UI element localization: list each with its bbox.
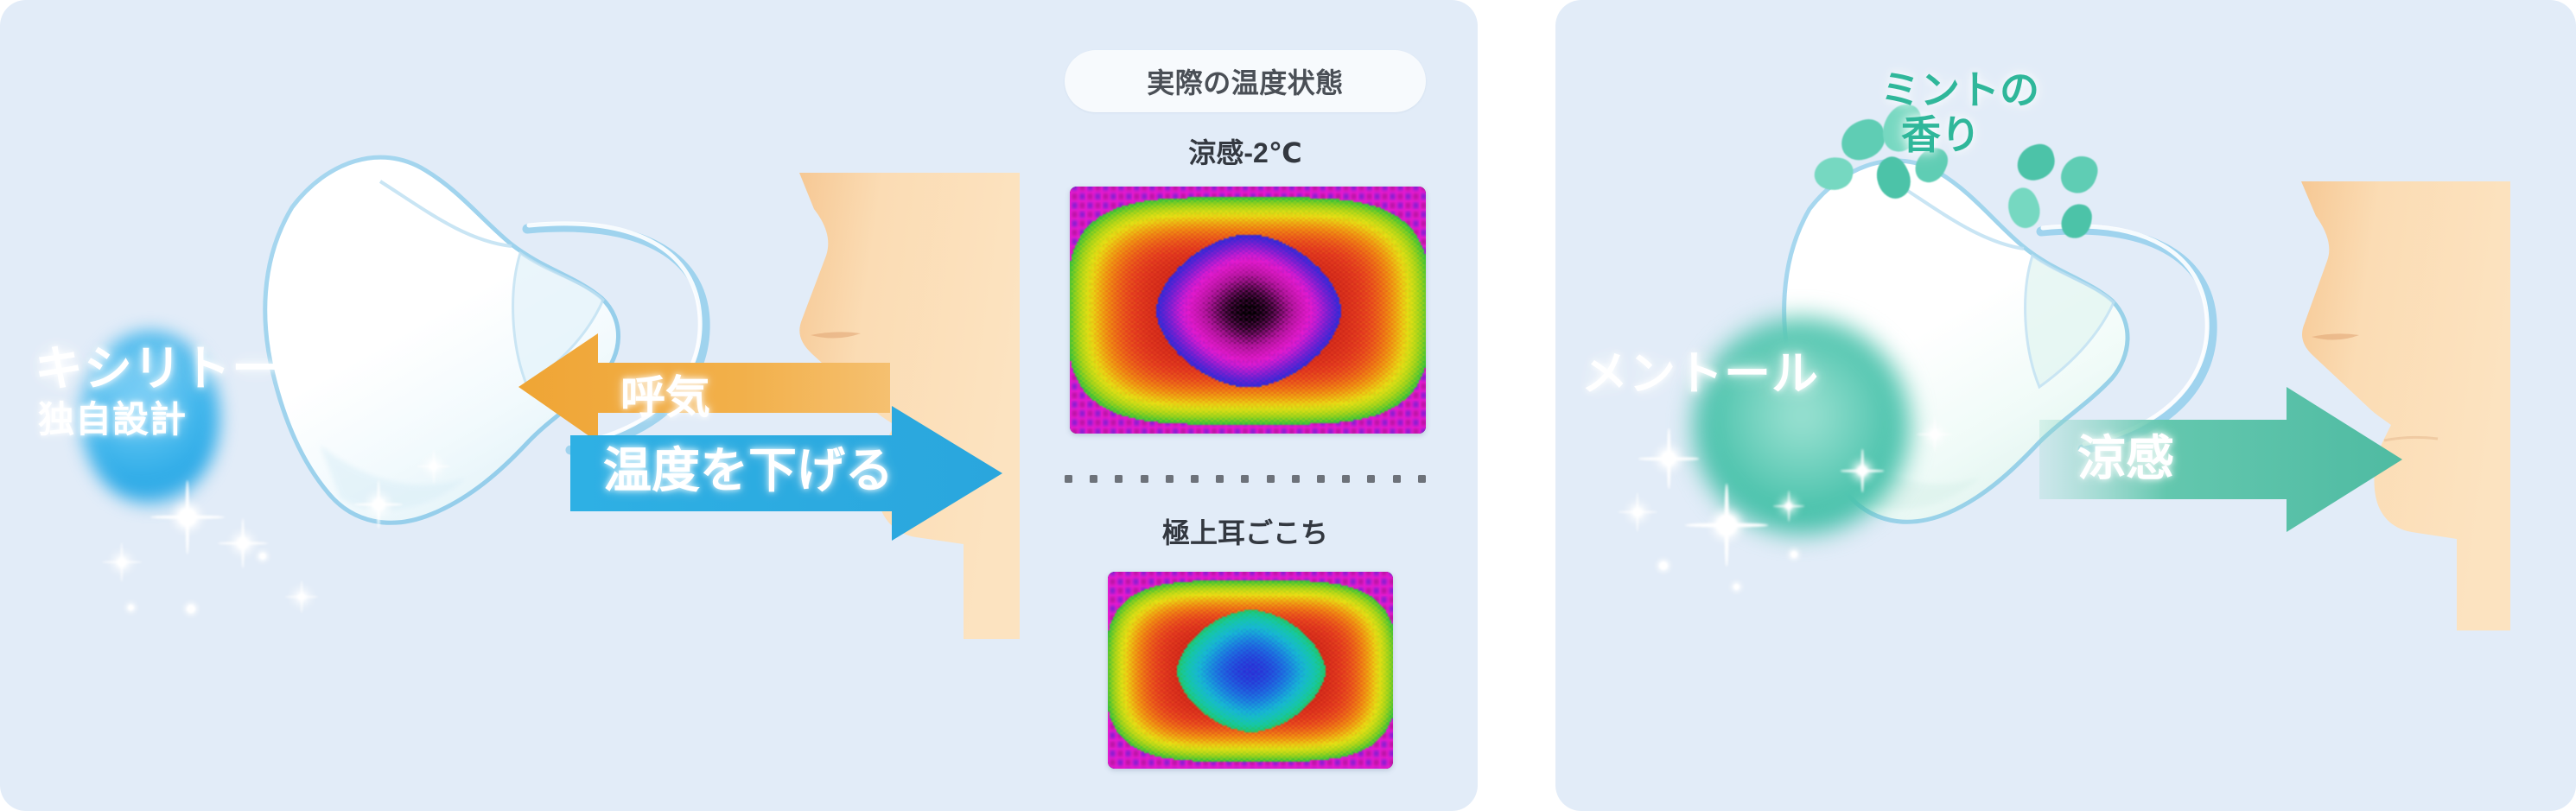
label-original-design: 独自設計 xyxy=(38,390,187,443)
sparkle-dot xyxy=(1733,584,1740,590)
thermal-section-title: 実際の温度状態 xyxy=(1147,61,1344,101)
label-xylitol-superscript: 配合 xyxy=(278,344,316,371)
arrow-lower-temperature: 温度を下げる xyxy=(570,406,1002,544)
thermal-image-cool xyxy=(1070,187,1426,434)
sparkle-dot xyxy=(1659,561,1668,570)
panel-menthol-mask: ミントの 香り メントール 涼感 xyxy=(1555,0,2576,811)
arrow-cooling: 涼感 xyxy=(2039,380,2402,535)
thermal-caption-bottom: 極上耳ごこち xyxy=(1065,511,1426,551)
panel-cooling-mask: キシリトール 配合 独自設計 呼気 xyxy=(0,0,1478,811)
sparkle-dot xyxy=(259,553,266,560)
thermal-section-title-pill: 実際の温度状態 xyxy=(1065,50,1426,112)
thermal-image-warm xyxy=(1108,572,1393,769)
arrow-lower-temperature-label: 温度を下げる xyxy=(603,432,894,502)
sparkle-dot xyxy=(128,605,134,611)
sparkle-dot xyxy=(1790,551,1797,558)
dotted-divider xyxy=(1065,473,1426,484)
illustration-stage: キシリトール 配合 独自設計 呼気 xyxy=(0,0,2576,811)
label-menthol: メントール xyxy=(1581,335,1819,403)
sparkle-dot xyxy=(187,605,195,613)
label-mint-scent-line2: 香り xyxy=(1901,104,1981,161)
thermal-caption-top: 涼感-2℃ xyxy=(1065,131,1426,171)
arrow-cooling-label: 涼感 xyxy=(2077,420,2174,490)
